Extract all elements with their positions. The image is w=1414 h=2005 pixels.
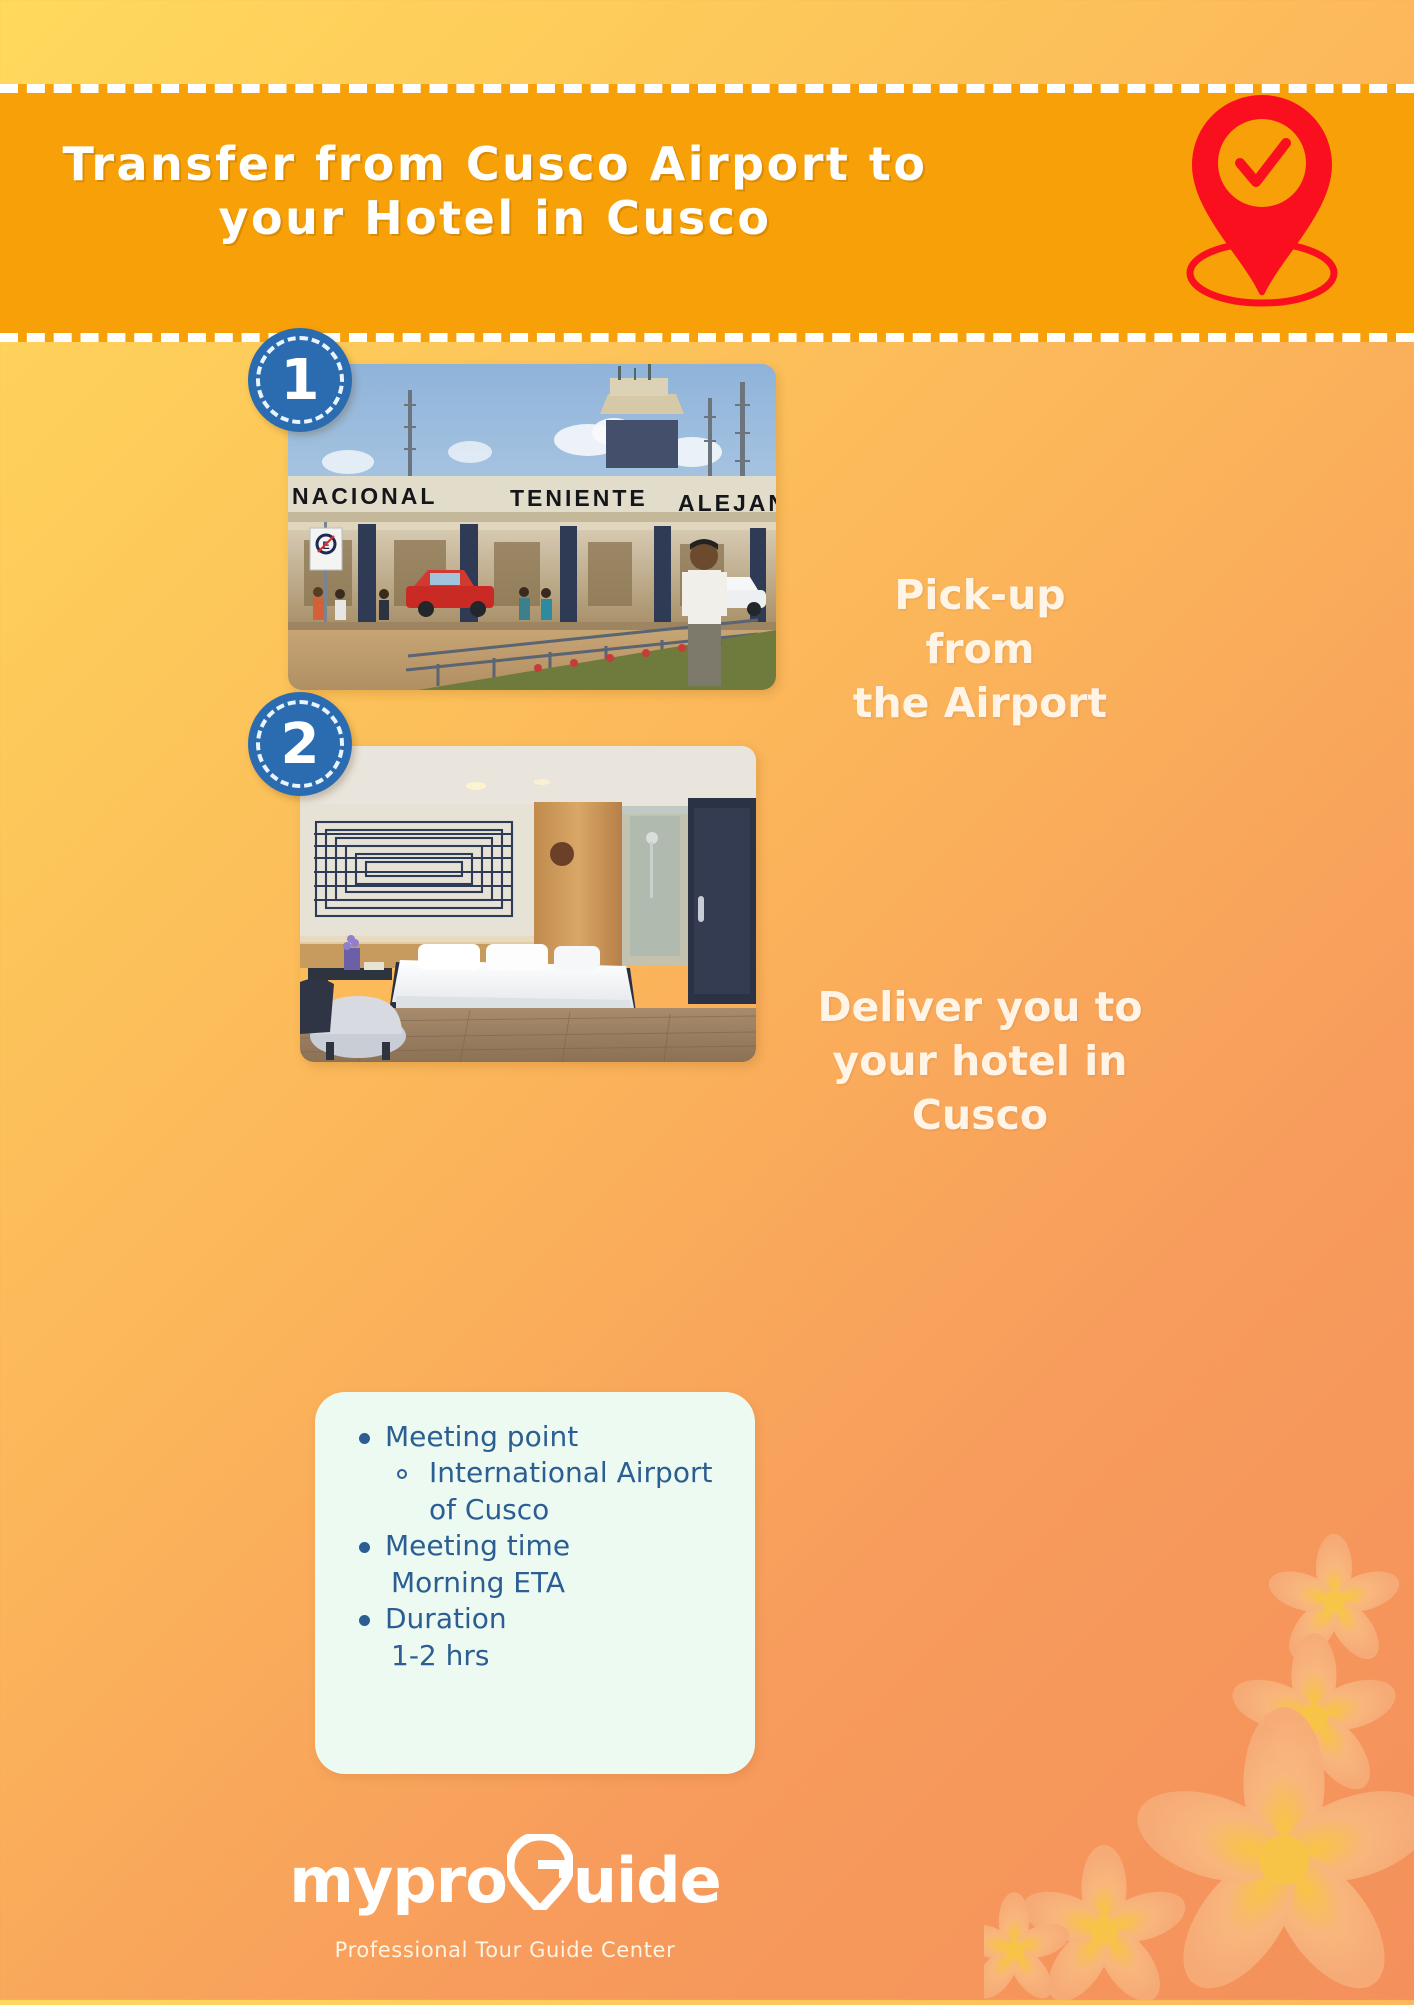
logo-tagline: Professional Tour Guide Center bbox=[0, 1938, 1010, 1962]
step-2-caption-line-3: Cusco bbox=[770, 1088, 1190, 1142]
list-item: Duration bbox=[339, 1602, 739, 1636]
page-title-line-2: your Hotel in Cusco bbox=[30, 191, 960, 245]
logo-pin-g-icon bbox=[507, 1834, 573, 1920]
step-1-caption-line-3: the Airport bbox=[790, 676, 1170, 730]
list-item: Meeting point bbox=[339, 1420, 739, 1454]
list-item: of Cusco bbox=[339, 1493, 739, 1527]
plumeria-flower-decor bbox=[984, 1530, 1414, 2000]
brand-logo: myprouide Professional Tour Guide Center bbox=[0, 1838, 1010, 1962]
list-item: 1-2 hrs bbox=[339, 1639, 739, 1673]
step-2-caption-line-1: Deliver you to bbox=[770, 980, 1190, 1034]
logo-wordmark: myprouide bbox=[289, 1838, 720, 1924]
list-item: Morning ETA bbox=[339, 1566, 739, 1600]
step-2-caption-line-2: your hotel in bbox=[770, 1034, 1190, 1088]
page-title-line-1: Transfer from Cusco Airport to bbox=[30, 137, 960, 191]
logo-text-mypro: mypro bbox=[289, 1844, 507, 1917]
details-card: Meeting point International Airport of C… bbox=[315, 1392, 755, 1774]
step-2-caption: Deliver you to your hotel in Cusco bbox=[770, 980, 1190, 1142]
svg-text:NACIONAL: NACIONAL bbox=[292, 483, 437, 509]
page-title: Transfer from Cusco Airport to your Hote… bbox=[30, 137, 960, 246]
list-item: Meeting time bbox=[339, 1529, 739, 1563]
step-2-number: 2 bbox=[248, 692, 352, 796]
list-item: International Airport bbox=[339, 1456, 739, 1490]
logo-text-uide: uide bbox=[573, 1844, 721, 1917]
step-2-photo bbox=[300, 746, 756, 1062]
svg-text:ALEJANDRO: ALEJANDRO bbox=[678, 490, 776, 516]
details-list: Meeting point International Airport of C… bbox=[339, 1420, 739, 1675]
step-1-caption-line-2: from bbox=[790, 622, 1170, 676]
step-1-badge: 1 bbox=[248, 328, 352, 432]
step-1-number: 1 bbox=[248, 328, 352, 432]
step-1-photo: NACIONAL TENIENTE ALEJANDRO E bbox=[288, 364, 776, 690]
location-pin-check-icon bbox=[1162, 87, 1362, 317]
svg-text:TENIENTE: TENIENTE bbox=[510, 485, 648, 511]
step-1-caption-line-1: Pick-up bbox=[790, 568, 1170, 622]
step-1-caption: Pick-up from the Airport bbox=[790, 568, 1170, 730]
header-banner: Transfer from Cusco Airport to your Hote… bbox=[0, 84, 1414, 342]
step-2-badge: 2 bbox=[248, 692, 352, 796]
